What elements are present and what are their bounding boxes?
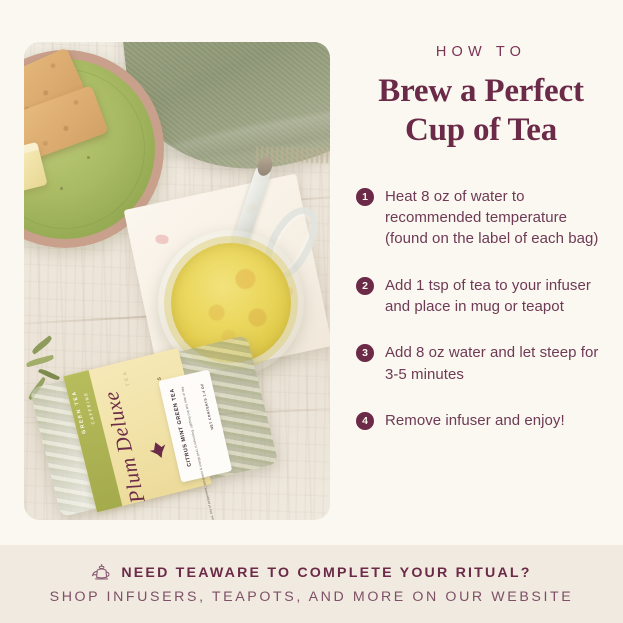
step-text: Remove infuser and enjoy! bbox=[385, 410, 565, 431]
kicker-text: HOW TO bbox=[356, 44, 606, 60]
teapot-icon bbox=[91, 564, 112, 582]
footer-cta-banner: NEED TEAWARE TO COMPLETE YOUR RITUAL? SH… bbox=[0, 545, 623, 623]
packet-net-weight: NET CONTENTS 1.4 OZ bbox=[200, 383, 215, 430]
title-line-2: Cup of Tea bbox=[405, 112, 557, 148]
list-item: 2 Add 1 tsp of tea to your infuser and p… bbox=[356, 275, 606, 318]
footer-subtext: SHOP INFUSERS, TEAPOTS, AND MORE ON OUR … bbox=[50, 589, 574, 605]
footer-headline-text: NEED TEAWARE TO COMPLETE YOUR RITUAL? bbox=[121, 565, 531, 581]
infographic-root: GREEN TEA CAFFEINE TEA Plum Deluxe HAND … bbox=[0, 0, 623, 623]
plate-speck bbox=[60, 187, 63, 190]
list-item: 1 Heat 8 oz of water to recommended temp… bbox=[356, 186, 606, 250]
step-number-badge: 1 bbox=[356, 188, 374, 206]
footer-headline: NEED TEAWARE TO COMPLETE YOUR RITUAL? bbox=[91, 564, 531, 582]
list-item: 3 Add 8 oz water and let steep for 3-5 m… bbox=[356, 342, 606, 385]
tea-photo: GREEN TEA CAFFEINE TEA Plum Deluxe HAND … bbox=[24, 42, 330, 520]
step-text: Heat 8 oz of water to recommended temper… bbox=[385, 186, 606, 250]
list-item: 4 Remove infuser and enjoy! bbox=[356, 410, 606, 431]
title-line-1: Brew a Perfect bbox=[378, 73, 583, 109]
step-number-badge: 2 bbox=[356, 277, 374, 295]
step-text: Add 8 oz water and let steep for 3-5 min… bbox=[385, 342, 606, 385]
plum-flower-icon bbox=[147, 439, 169, 461]
packet-ghost-text: TEA bbox=[122, 369, 132, 387]
page-title: Brew a Perfect Cup of Tea bbox=[356, 72, 606, 150]
step-text: Add 1 tsp of tea to your infuser and pla… bbox=[385, 275, 606, 318]
step-number-badge: 4 bbox=[356, 412, 374, 430]
plate-speck bbox=[87, 156, 90, 159]
step-number-badge: 3 bbox=[356, 344, 374, 362]
steps-list: 1 Heat 8 oz of water to recommended temp… bbox=[356, 186, 606, 431]
instructions-panel: HOW TO Brew a Perfect Cup of Tea 1 Heat … bbox=[356, 44, 606, 456]
